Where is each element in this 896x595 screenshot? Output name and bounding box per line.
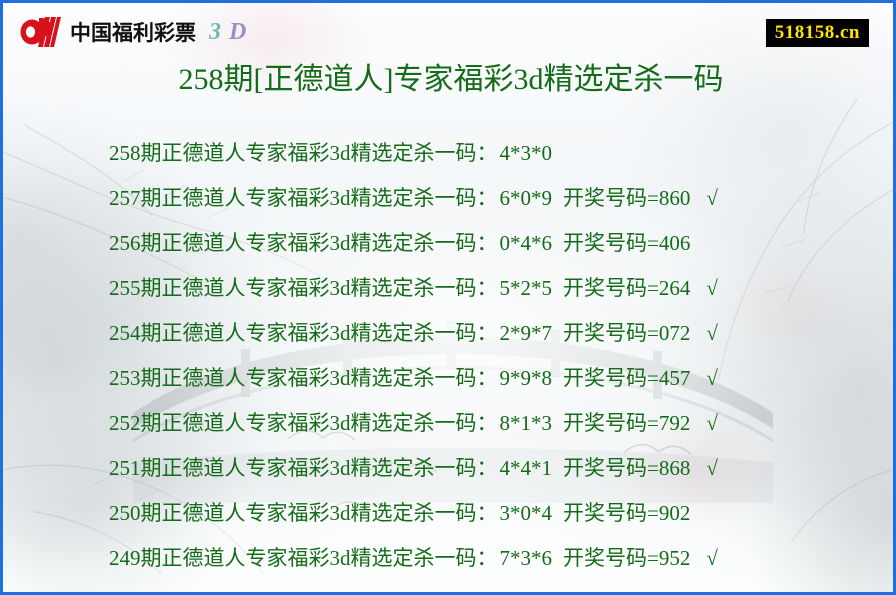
hit-check-icon: √ bbox=[706, 276, 718, 300]
forecast-kill-numbers: 4*4*1 bbox=[500, 456, 553, 480]
draw-result: 开奖号码=902 bbox=[563, 501, 690, 525]
forecast-row: 250期正德道人专家福彩3d精选定杀一码：3*0*4开奖号码=902√ bbox=[109, 490, 839, 535]
forecast-row-label: 256期正德道人专家福彩3d精选定杀一码： bbox=[109, 231, 498, 255]
hit-check-icon: √ bbox=[706, 321, 718, 345]
forecast-row-label: 255期正德道人专家福彩3d精选定杀一码： bbox=[109, 276, 498, 300]
china-welfare-lottery-emblem-icon bbox=[20, 15, 62, 49]
hit-check-icon: √ bbox=[706, 546, 718, 570]
draw-result: 开奖号码=406 bbox=[563, 231, 690, 255]
brand-logo-text: 中国福利彩票 bbox=[70, 17, 196, 47]
forecast-kill-numbers: 7*3*6 bbox=[500, 546, 553, 570]
forecast-kill-numbers: 0*4*6 bbox=[500, 231, 553, 255]
forecast-row: 253期正德道人专家福彩3d精选定杀一码：9*9*8开奖号码=457√ bbox=[109, 355, 839, 400]
site-header: 中国福利彩票 3 D bbox=[6, 6, 896, 58]
forecast-row-label: 249期正德道人专家福彩3d精选定杀一码： bbox=[109, 546, 498, 570]
forecast-kill-numbers: 4*3*0 bbox=[500, 141, 553, 165]
forecast-row-label: 258期正德道人专家福彩3d精选定杀一码： bbox=[109, 141, 498, 165]
site-watermark: 518158.cn bbox=[766, 19, 869, 47]
forecast-kill-numbers: 6*0*9 bbox=[500, 186, 553, 210]
hit-check-icon: √ bbox=[706, 456, 718, 480]
forecast-row-label: 253期正德道人专家福彩3d精选定杀一码： bbox=[109, 366, 498, 390]
forecast-row: 252期正德道人专家福彩3d精选定杀一码：8*1*3开奖号码=792√ bbox=[109, 400, 839, 445]
draw-result: 开奖号码=072 bbox=[563, 321, 690, 345]
forecast-row: 257期正德道人专家福彩3d精选定杀一码：6*0*9开奖号码=860√ bbox=[109, 175, 839, 220]
forecast-list: 258期正德道人专家福彩3d精选定杀一码：4*3*0√257期正德道人专家福彩3… bbox=[109, 130, 839, 580]
draw-result: 开奖号码=868 bbox=[563, 456, 690, 480]
hit-check-icon: √ bbox=[706, 366, 718, 390]
forecast-row-label: 254期正德道人专家福彩3d精选定杀一码： bbox=[109, 321, 498, 345]
forecast-kill-numbers: 8*1*3 bbox=[500, 411, 553, 435]
forecast-row: 255期正德道人专家福彩3d精选定杀一码：5*2*5开奖号码=264√ bbox=[109, 265, 839, 310]
forecast-kill-numbers: 5*2*5 bbox=[500, 276, 553, 300]
forecast-kill-numbers: 3*0*4 bbox=[500, 501, 553, 525]
hit-check-icon: √ bbox=[706, 411, 718, 435]
brand-logo[interactable]: 中国福利彩票 3 D bbox=[20, 15, 246, 49]
forecast-row-label: 257期正德道人专家福彩3d精选定杀一码： bbox=[109, 186, 498, 210]
draw-result: 开奖号码=860 bbox=[563, 186, 690, 210]
forecast-kill-numbers: 9*9*8 bbox=[500, 366, 553, 390]
lottery-forecast-page: 中国福利彩票 3 D 518158.cn 258期[正德道人]专家福彩3d精选定… bbox=[0, 0, 896, 595]
forecast-kill-numbers: 2*9*7 bbox=[500, 321, 553, 345]
draw-result: 开奖号码=264 bbox=[563, 276, 690, 300]
forecast-row-label: 251期正德道人专家福彩3d精选定杀一码： bbox=[109, 456, 498, 480]
forecast-row: 258期正德道人专家福彩3d精选定杀一码：4*3*0√ bbox=[109, 130, 839, 175]
brand-logo-d: D bbox=[229, 19, 246, 46]
forecast-row: 249期正德道人专家福彩3d精选定杀一码：7*3*6开奖号码=952√ bbox=[109, 535, 839, 580]
draw-result: 开奖号码=792 bbox=[563, 411, 690, 435]
forecast-row-label: 250期正德道人专家福彩3d精选定杀一码： bbox=[109, 501, 498, 525]
draw-result: 开奖号码=457 bbox=[563, 366, 690, 390]
forecast-row: 251期正德道人专家福彩3d精选定杀一码：4*4*1开奖号码=868√ bbox=[109, 445, 839, 490]
draw-result: 开奖号码=952 bbox=[563, 546, 690, 570]
hit-check-icon: √ bbox=[706, 186, 718, 210]
forecast-row: 254期正德道人专家福彩3d精选定杀一码：2*9*7开奖号码=072√ bbox=[109, 310, 839, 355]
page-title: 258期[正德道人]专家福彩3d精选定杀一码 bbox=[3, 60, 896, 100]
forecast-row-label: 252期正德道人专家福彩3d精选定杀一码： bbox=[109, 411, 498, 435]
forecast-row: 256期正德道人专家福彩3d精选定杀一码：0*4*6开奖号码=406√ bbox=[109, 220, 839, 265]
brand-logo-3: 3 bbox=[209, 19, 221, 46]
